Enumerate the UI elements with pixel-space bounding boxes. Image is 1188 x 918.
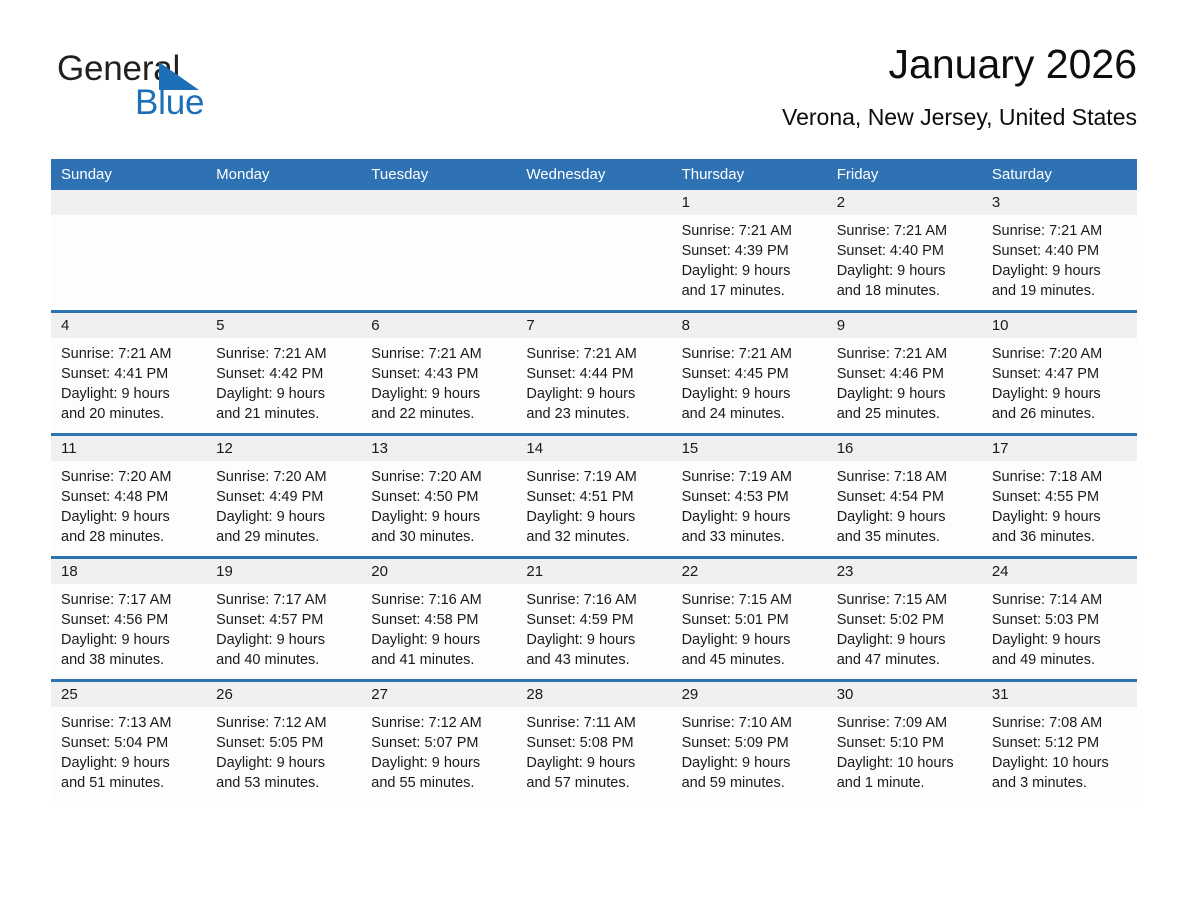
day-details: Sunrise: 7:21 AMSunset: 4:39 PMDaylight:… [672, 215, 827, 301]
day-number: 26 [206, 682, 361, 707]
calendar-day-cell[interactable]: 15Sunrise: 7:19 AMSunset: 4:53 PMDayligh… [672, 435, 827, 558]
day-detail-line: Daylight: 9 hours [216, 507, 353, 527]
day-detail-line: Sunset: 5:04 PM [61, 733, 198, 753]
calendar-day-cell-empty [206, 190, 361, 312]
day-detail-line: Sunset: 4:53 PM [682, 487, 819, 507]
day-details: Sunrise: 7:21 AMSunset: 4:46 PMDaylight:… [827, 338, 982, 424]
day-detail-line: Sunrise: 7:17 AM [216, 590, 353, 610]
day-details: Sunrise: 7:14 AMSunset: 5:03 PMDaylight:… [982, 584, 1137, 670]
day-detail-line: Sunset: 4:44 PM [526, 364, 663, 384]
day-detail-line: Daylight: 9 hours [682, 261, 819, 281]
day-detail-line: Sunset: 5:05 PM [216, 733, 353, 753]
day-detail-line: Daylight: 9 hours [682, 753, 819, 773]
calendar-day-cell[interactable]: 24Sunrise: 7:14 AMSunset: 5:03 PMDayligh… [982, 558, 1137, 681]
calendar-day-cell[interactable]: 28Sunrise: 7:11 AMSunset: 5:08 PMDayligh… [516, 681, 671, 803]
calendar-day-cell[interactable]: 5Sunrise: 7:21 AMSunset: 4:42 PMDaylight… [206, 312, 361, 435]
calendar-day-cell[interactable]: 2Sunrise: 7:21 AMSunset: 4:40 PMDaylight… [827, 190, 982, 312]
day-number: 29 [672, 682, 827, 707]
day-details: Sunrise: 7:15 AMSunset: 5:02 PMDaylight:… [827, 584, 982, 670]
day-details [361, 215, 516, 221]
calendar-day-cell[interactable]: 4Sunrise: 7:21 AMSunset: 4:41 PMDaylight… [51, 312, 206, 435]
day-details: Sunrise: 7:16 AMSunset: 4:58 PMDaylight:… [361, 584, 516, 670]
calendar-day-cell[interactable]: 12Sunrise: 7:20 AMSunset: 4:49 PMDayligh… [206, 435, 361, 558]
calendar-week-row: 1Sunrise: 7:21 AMSunset: 4:39 PMDaylight… [51, 190, 1137, 312]
day-detail-line: Sunrise: 7:09 AM [837, 713, 974, 733]
day-details: Sunrise: 7:11 AMSunset: 5:08 PMDaylight:… [516, 707, 671, 793]
day-detail-line: Sunset: 4:55 PM [992, 487, 1129, 507]
day-number [206, 190, 361, 215]
day-detail-line: and 19 minutes. [992, 281, 1129, 301]
day-detail-line: Daylight: 9 hours [526, 507, 663, 527]
day-detail-line: Daylight: 9 hours [526, 630, 663, 650]
general-blue-logo: General Blue [57, 50, 317, 130]
day-detail-line: and 57 minutes. [526, 773, 663, 793]
day-number: 5 [206, 313, 361, 338]
day-number: 12 [206, 436, 361, 461]
day-detail-line: Sunset: 4:47 PM [992, 364, 1129, 384]
day-detail-line: and 23 minutes. [526, 404, 663, 424]
day-details: Sunrise: 7:21 AMSunset: 4:40 PMDaylight:… [827, 215, 982, 301]
day-detail-line: and 18 minutes. [837, 281, 974, 301]
day-detail-line: Sunset: 4:40 PM [992, 241, 1129, 261]
day-details: Sunrise: 7:20 AMSunset: 4:47 PMDaylight:… [982, 338, 1137, 424]
day-number: 25 [51, 682, 206, 707]
day-detail-line: and 24 minutes. [682, 404, 819, 424]
day-detail-line: Sunset: 4:50 PM [371, 487, 508, 507]
day-number: 15 [672, 436, 827, 461]
day-detail-line: and 17 minutes. [682, 281, 819, 301]
day-number: 31 [982, 682, 1137, 707]
day-details: Sunrise: 7:19 AMSunset: 4:51 PMDaylight:… [516, 461, 671, 547]
day-details: Sunrise: 7:10 AMSunset: 5:09 PMDaylight:… [672, 707, 827, 793]
day-details: Sunrise: 7:16 AMSunset: 4:59 PMDaylight:… [516, 584, 671, 670]
day-detail-line: Sunrise: 7:12 AM [216, 713, 353, 733]
day-detail-line: Sunset: 5:10 PM [837, 733, 974, 753]
weekday-header-saturday: Saturday [982, 159, 1137, 190]
day-number [516, 190, 671, 215]
weekday-header-thursday: Thursday [672, 159, 827, 190]
day-details: Sunrise: 7:21 AMSunset: 4:42 PMDaylight:… [206, 338, 361, 424]
day-details: Sunrise: 7:19 AMSunset: 4:53 PMDaylight:… [672, 461, 827, 547]
day-details: Sunrise: 7:17 AMSunset: 4:57 PMDaylight:… [206, 584, 361, 670]
day-detail-line: Sunrise: 7:18 AM [992, 467, 1129, 487]
calendar-page: General Blue January 2026 Verona, New Je… [0, 0, 1188, 918]
day-detail-line: and 1 minute. [837, 773, 974, 793]
day-detail-line: Daylight: 9 hours [216, 753, 353, 773]
calendar-day-cell[interactable]: 3Sunrise: 7:21 AMSunset: 4:40 PMDaylight… [982, 190, 1137, 312]
day-number: 17 [982, 436, 1137, 461]
day-detail-line: Sunrise: 7:10 AM [682, 713, 819, 733]
day-detail-line: Sunset: 4:56 PM [61, 610, 198, 630]
day-detail-line: Daylight: 9 hours [837, 507, 974, 527]
calendar-day-cell[interactable]: 30Sunrise: 7:09 AMSunset: 5:10 PMDayligh… [827, 681, 982, 803]
day-detail-line: Sunrise: 7:21 AM [992, 221, 1129, 241]
day-detail-line: Sunrise: 7:15 AM [682, 590, 819, 610]
logo-text-blue: Blue [135, 84, 204, 122]
day-number: 30 [827, 682, 982, 707]
calendar-day-cell[interactable]: 29Sunrise: 7:10 AMSunset: 5:09 PMDayligh… [672, 681, 827, 803]
day-detail-line: and 26 minutes. [992, 404, 1129, 424]
day-detail-line: Daylight: 9 hours [216, 630, 353, 650]
day-number: 14 [516, 436, 671, 461]
day-detail-line: Sunrise: 7:21 AM [837, 221, 974, 241]
calendar-day-cell-empty [51, 190, 206, 312]
day-detail-line: Daylight: 9 hours [61, 753, 198, 773]
day-detail-line: Sunrise: 7:11 AM [526, 713, 663, 733]
day-details: Sunrise: 7:21 AMSunset: 4:44 PMDaylight:… [516, 338, 671, 424]
day-detail-line: Sunset: 4:42 PM [216, 364, 353, 384]
day-detail-line: Sunset: 5:12 PM [992, 733, 1129, 753]
day-detail-line: Sunrise: 7:21 AM [682, 221, 819, 241]
calendar-day-cell[interactable]: 26Sunrise: 7:12 AMSunset: 5:05 PMDayligh… [206, 681, 361, 803]
day-detail-line: Sunrise: 7:20 AM [216, 467, 353, 487]
day-number: 7 [516, 313, 671, 338]
day-detail-line: and 36 minutes. [992, 527, 1129, 547]
day-details: Sunrise: 7:18 AMSunset: 4:55 PMDaylight:… [982, 461, 1137, 547]
day-detail-line: and 32 minutes. [526, 527, 663, 547]
weekday-header-monday: Monday [206, 159, 361, 190]
day-detail-line: Sunset: 4:51 PM [526, 487, 663, 507]
day-detail-line: and 40 minutes. [216, 650, 353, 670]
title-block: January 2026 Verona, New Jersey, United … [782, 40, 1137, 132]
day-detail-line: Sunrise: 7:19 AM [682, 467, 819, 487]
day-number: 6 [361, 313, 516, 338]
calendar-day-cell[interactable]: 21Sunrise: 7:16 AMSunset: 4:59 PMDayligh… [516, 558, 671, 681]
day-detail-line: Sunset: 5:09 PM [682, 733, 819, 753]
day-detail-line: Sunrise: 7:08 AM [992, 713, 1129, 733]
calendar-day-cell[interactable]: 13Sunrise: 7:20 AMSunset: 4:50 PMDayligh… [361, 435, 516, 558]
day-number: 3 [982, 190, 1137, 215]
day-detail-line: and 22 minutes. [371, 404, 508, 424]
day-detail-line: Daylight: 9 hours [837, 261, 974, 281]
day-detail-line: Daylight: 9 hours [526, 384, 663, 404]
day-detail-line: and 28 minutes. [61, 527, 198, 547]
day-detail-line: and 38 minutes. [61, 650, 198, 670]
day-detail-line: Daylight: 9 hours [682, 507, 819, 527]
day-detail-line: and 43 minutes. [526, 650, 663, 670]
day-detail-line: Daylight: 9 hours [992, 630, 1129, 650]
day-detail-line: Sunrise: 7:21 AM [371, 344, 508, 364]
calendar-day-cell[interactable]: 22Sunrise: 7:15 AMSunset: 5:01 PMDayligh… [672, 558, 827, 681]
day-detail-line: and 49 minutes. [992, 650, 1129, 670]
day-detail-line: and 35 minutes. [837, 527, 974, 547]
day-details: Sunrise: 7:09 AMSunset: 5:10 PMDaylight:… [827, 707, 982, 793]
day-detail-line: Daylight: 9 hours [682, 384, 819, 404]
day-details: Sunrise: 7:13 AMSunset: 5:04 PMDaylight:… [51, 707, 206, 793]
day-detail-line: and 20 minutes. [61, 404, 198, 424]
day-number: 19 [206, 559, 361, 584]
day-detail-line: Sunrise: 7:20 AM [61, 467, 198, 487]
day-detail-line: Sunrise: 7:20 AM [992, 344, 1129, 364]
day-detail-line: Daylight: 9 hours [61, 630, 198, 650]
day-detail-line: Daylight: 9 hours [216, 384, 353, 404]
weekday-header-tuesday: Tuesday [361, 159, 516, 190]
day-detail-line: Sunset: 4:59 PM [526, 610, 663, 630]
calendar-day-cell[interactable]: 17Sunrise: 7:18 AMSunset: 4:55 PMDayligh… [982, 435, 1137, 558]
day-detail-line: Sunrise: 7:16 AM [371, 590, 508, 610]
day-detail-line: Daylight: 9 hours [371, 384, 508, 404]
day-detail-line: Sunset: 5:03 PM [992, 610, 1129, 630]
day-number: 1 [672, 190, 827, 215]
calendar-week-row: 11Sunrise: 7:20 AMSunset: 4:48 PMDayligh… [51, 435, 1137, 558]
day-detail-line: Daylight: 10 hours [992, 753, 1129, 773]
calendar-day-cell[interactable]: 6Sunrise: 7:21 AMSunset: 4:43 PMDaylight… [361, 312, 516, 435]
day-detail-line: and 3 minutes. [992, 773, 1129, 793]
calendar-day-cell[interactable]: 19Sunrise: 7:17 AMSunset: 4:57 PMDayligh… [206, 558, 361, 681]
day-detail-line: Sunset: 4:40 PM [837, 241, 974, 261]
calendar-day-cell-empty [361, 190, 516, 312]
day-number: 2 [827, 190, 982, 215]
day-details: Sunrise: 7:18 AMSunset: 4:54 PMDaylight:… [827, 461, 982, 547]
day-detail-line: and 33 minutes. [682, 527, 819, 547]
day-number: 9 [827, 313, 982, 338]
calendar-day-cell[interactable]: 8Sunrise: 7:21 AMSunset: 4:45 PMDaylight… [672, 312, 827, 435]
day-detail-line: and 53 minutes. [216, 773, 353, 793]
day-number: 27 [361, 682, 516, 707]
weekday-header-sunday: Sunday [51, 159, 206, 190]
day-detail-line: Sunrise: 7:17 AM [61, 590, 198, 610]
day-number: 18 [51, 559, 206, 584]
day-detail-line: Daylight: 9 hours [992, 384, 1129, 404]
day-details: Sunrise: 7:20 AMSunset: 4:48 PMDaylight:… [51, 461, 206, 547]
day-detail-line: and 59 minutes. [682, 773, 819, 793]
day-details: Sunrise: 7:12 AMSunset: 5:07 PMDaylight:… [361, 707, 516, 793]
calendar-table: SundayMondayTuesdayWednesdayThursdayFrid… [51, 159, 1137, 802]
day-number: 28 [516, 682, 671, 707]
day-details: Sunrise: 7:12 AMSunset: 5:05 PMDaylight:… [206, 707, 361, 793]
day-number: 4 [51, 313, 206, 338]
weekday-header-wednesday: Wednesday [516, 159, 671, 190]
day-detail-line: and 55 minutes. [371, 773, 508, 793]
day-detail-line: and 45 minutes. [682, 650, 819, 670]
day-details: Sunrise: 7:15 AMSunset: 5:01 PMDaylight:… [672, 584, 827, 670]
calendar-day-cell[interactable]: 27Sunrise: 7:12 AMSunset: 5:07 PMDayligh… [361, 681, 516, 803]
day-number [51, 190, 206, 215]
page-title: January 2026 [782, 40, 1137, 88]
calendar-day-cell[interactable]: 7Sunrise: 7:21 AMSunset: 4:44 PMDaylight… [516, 312, 671, 435]
day-detail-line: and 41 minutes. [371, 650, 508, 670]
day-detail-line: Sunset: 4:43 PM [371, 364, 508, 384]
day-detail-line: Sunrise: 7:20 AM [371, 467, 508, 487]
day-detail-line: Sunrise: 7:15 AM [837, 590, 974, 610]
calendar-day-cell[interactable]: 16Sunrise: 7:18 AMSunset: 4:54 PMDayligh… [827, 435, 982, 558]
day-detail-line: and 30 minutes. [371, 527, 508, 547]
day-detail-line: Daylight: 9 hours [992, 261, 1129, 281]
page-header: General Blue January 2026 Verona, New Je… [51, 40, 1137, 150]
day-detail-line: Sunset: 5:02 PM [837, 610, 974, 630]
day-detail-line: Daylight: 9 hours [61, 384, 198, 404]
day-detail-line: Sunrise: 7:21 AM [61, 344, 198, 364]
day-detail-line: and 51 minutes. [61, 773, 198, 793]
day-number: 23 [827, 559, 982, 584]
day-detail-line: Sunrise: 7:21 AM [682, 344, 819, 364]
day-number [361, 190, 516, 215]
day-detail-line: Sunset: 4:48 PM [61, 487, 198, 507]
calendar-day-cell[interactable]: 10Sunrise: 7:20 AMSunset: 4:47 PMDayligh… [982, 312, 1137, 435]
day-number: 22 [672, 559, 827, 584]
day-details: Sunrise: 7:08 AMSunset: 5:12 PMDaylight:… [982, 707, 1137, 793]
day-detail-line: Sunrise: 7:19 AM [526, 467, 663, 487]
calendar-week-row: 4Sunrise: 7:21 AMSunset: 4:41 PMDaylight… [51, 312, 1137, 435]
day-details: Sunrise: 7:20 AMSunset: 4:49 PMDaylight:… [206, 461, 361, 547]
day-detail-line: Daylight: 9 hours [837, 384, 974, 404]
calendar-day-cell[interactable]: 1Sunrise: 7:21 AMSunset: 4:39 PMDaylight… [672, 190, 827, 312]
day-detail-line: Daylight: 9 hours [682, 630, 819, 650]
day-details: Sunrise: 7:21 AMSunset: 4:43 PMDaylight:… [361, 338, 516, 424]
day-number: 8 [672, 313, 827, 338]
day-detail-line: and 47 minutes. [837, 650, 974, 670]
day-number: 24 [982, 559, 1137, 584]
calendar-body: 1Sunrise: 7:21 AMSunset: 4:39 PMDaylight… [51, 190, 1137, 802]
day-detail-line: Sunset: 4:39 PM [682, 241, 819, 261]
day-detail-line: Sunset: 4:57 PM [216, 610, 353, 630]
day-detail-line: Daylight: 9 hours [992, 507, 1129, 527]
calendar-header-row: SundayMondayTuesdayWednesdayThursdayFrid… [51, 159, 1137, 190]
calendar-day-cell[interactable]: 31Sunrise: 7:08 AMSunset: 5:12 PMDayligh… [982, 681, 1137, 803]
day-number: 11 [51, 436, 206, 461]
day-detail-line: Sunset: 5:07 PM [371, 733, 508, 753]
page-subtitle: Verona, New Jersey, United States [782, 102, 1137, 132]
day-detail-line: Sunset: 5:08 PM [526, 733, 663, 753]
day-detail-line: and 29 minutes. [216, 527, 353, 547]
calendar-week-row: 25Sunrise: 7:13 AMSunset: 5:04 PMDayligh… [51, 681, 1137, 803]
day-detail-line: Sunrise: 7:12 AM [371, 713, 508, 733]
day-detail-line: Sunset: 4:45 PM [682, 364, 819, 384]
day-detail-line: Daylight: 9 hours [61, 507, 198, 527]
day-detail-line: Daylight: 9 hours [371, 753, 508, 773]
calendar-day-cell[interactable]: 18Sunrise: 7:17 AMSunset: 4:56 PMDayligh… [51, 558, 206, 681]
day-number: 21 [516, 559, 671, 584]
day-detail-line: Daylight: 9 hours [371, 630, 508, 650]
calendar-day-cell[interactable]: 11Sunrise: 7:20 AMSunset: 4:48 PMDayligh… [51, 435, 206, 558]
day-detail-line: Sunset: 4:54 PM [837, 487, 974, 507]
day-detail-line: Daylight: 10 hours [837, 753, 974, 773]
day-details [51, 215, 206, 221]
day-detail-line: Sunrise: 7:16 AM [526, 590, 663, 610]
calendar-day-cell[interactable]: 14Sunrise: 7:19 AMSunset: 4:51 PMDayligh… [516, 435, 671, 558]
day-details: Sunrise: 7:21 AMSunset: 4:40 PMDaylight:… [982, 215, 1137, 301]
day-detail-line: Daylight: 9 hours [526, 753, 663, 773]
day-detail-line: Sunset: 4:46 PM [837, 364, 974, 384]
day-detail-line: Sunrise: 7:21 AM [216, 344, 353, 364]
day-detail-line: Sunset: 4:49 PM [216, 487, 353, 507]
day-number: 20 [361, 559, 516, 584]
day-details [206, 215, 361, 221]
day-detail-line: Sunset: 4:58 PM [371, 610, 508, 630]
day-details: Sunrise: 7:20 AMSunset: 4:50 PMDaylight:… [361, 461, 516, 547]
day-detail-line: Sunset: 5:01 PM [682, 610, 819, 630]
day-detail-line: Daylight: 9 hours [837, 630, 974, 650]
calendar-day-cell[interactable]: 20Sunrise: 7:16 AMSunset: 4:58 PMDayligh… [361, 558, 516, 681]
day-detail-line: and 25 minutes. [837, 404, 974, 424]
day-detail-line: Sunrise: 7:21 AM [526, 344, 663, 364]
day-details [516, 215, 671, 221]
day-number: 10 [982, 313, 1137, 338]
calendar-week-row: 18Sunrise: 7:17 AMSunset: 4:56 PMDayligh… [51, 558, 1137, 681]
day-detail-line: Sunrise: 7:13 AM [61, 713, 198, 733]
weekday-header-friday: Friday [827, 159, 982, 190]
day-number: 16 [827, 436, 982, 461]
day-detail-line: Sunset: 4:41 PM [61, 364, 198, 384]
day-detail-line: Sunrise: 7:21 AM [837, 344, 974, 364]
calendar-day-cell[interactable]: 9Sunrise: 7:21 AMSunset: 4:46 PMDaylight… [827, 312, 982, 435]
calendar-day-cell[interactable]: 23Sunrise: 7:15 AMSunset: 5:02 PMDayligh… [827, 558, 982, 681]
day-number: 13 [361, 436, 516, 461]
day-details: Sunrise: 7:17 AMSunset: 4:56 PMDaylight:… [51, 584, 206, 670]
day-detail-line: Daylight: 9 hours [371, 507, 508, 527]
day-details: Sunrise: 7:21 AMSunset: 4:41 PMDaylight:… [51, 338, 206, 424]
day-detail-line: Sunrise: 7:14 AM [992, 590, 1129, 610]
calendar-day-cell-empty [516, 190, 671, 312]
calendar-day-cell[interactable]: 25Sunrise: 7:13 AMSunset: 5:04 PMDayligh… [51, 681, 206, 803]
day-detail-line: and 21 minutes. [216, 404, 353, 424]
day-details: Sunrise: 7:21 AMSunset: 4:45 PMDaylight:… [672, 338, 827, 424]
day-detail-line: Sunrise: 7:18 AM [837, 467, 974, 487]
